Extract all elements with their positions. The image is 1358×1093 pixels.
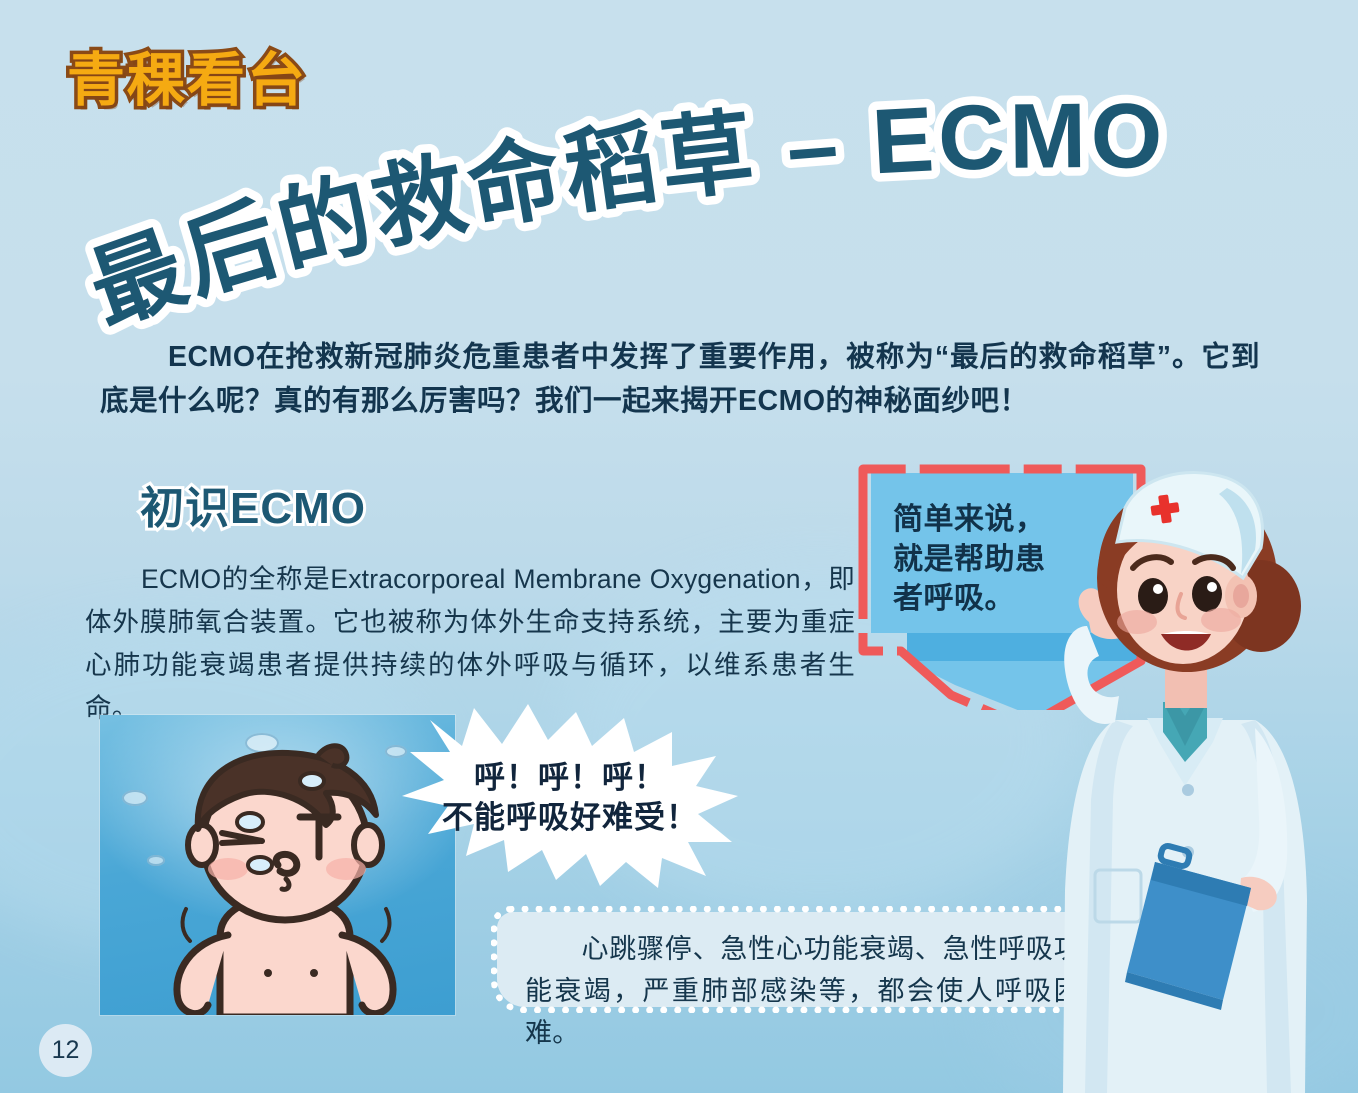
section-paragraph-text: ECMO的全称是Extracorporeal Membrane Oxygenat… [85,564,855,723]
page-number: 12 [39,1024,92,1077]
nurse-ear-inner [1233,584,1249,608]
man-cheek-left [208,858,248,880]
svg-text:最后的救命稻草 – ECMO: 最后的救命稻草 – ECMO [77,85,1167,343]
man-body-dot-left [264,969,272,977]
nurse-eye-left [1138,578,1168,614]
caption-box: 心跳骤停、急性心功能衰竭、急性呼吸功能衰竭，严重肺部感染等，都会使人呼吸困难。 [497,912,1109,1007]
caption-text: 心跳骤停、急性心功能衰竭、急性呼吸功能衰竭，严重肺部感染等，都会使人呼吸困难。 [525,929,1081,1055]
nurse-blush-left [1117,610,1157,634]
man-sweat-3 [300,773,324,789]
burst-speech-bubble: 呼！呼！呼！ 不能呼吸好难受！ [400,700,740,890]
nurse-neck [1165,666,1207,708]
intro-text: ECMO在抢救新冠肺炎危重患者中发挥了重要作用，被称为“最后的救命稻草”。它到底… [100,341,1260,417]
section-heading: 初识ECMO [140,487,366,531]
motion-line-left [183,909,190,941]
poster-page: 青稞看台 最后的救命稻草 – ECMO 最后的救命稻草 – ECMO ECMO在… [0,0,1358,1093]
burst-line-1: 呼！呼！呼！ [400,758,740,798]
gasping-man-figure [150,737,420,1015]
burst-line-2: 不能呼吸好难受！ [400,798,740,838]
page-title-fill: 最后的救命稻草 – ECMO [77,85,1167,343]
nurse-eye-right-glint [1207,582,1217,592]
man-sweat-2 [248,857,272,873]
kicker-label: 青稞看台 [67,52,307,110]
nurse-eye-right [1192,576,1222,612]
page-title: 最后的救命稻草 – ECMO 最后的救命稻草 – ECMO [0,140,1358,310]
nurse-arm-left [1064,626,1119,724]
motion-line-right [382,909,389,941]
man-ear-left [188,825,216,865]
man-ear-right [354,825,382,865]
caption-body: 心跳骤停、急性心功能衰竭、急性呼吸功能衰竭，严重肺部感染等，都会使人呼吸困难。 [525,934,1081,1048]
man-body-dot-right [310,969,318,977]
nurse-eye-left-glint [1153,584,1163,594]
nurse-button-1 [1182,784,1194,796]
burst-bubble-text: 呼！呼！呼！ 不能呼吸好难受！ [400,758,740,837]
nurse-illustration [1055,470,1358,1093]
intro-paragraph: ECMO在抢救新冠肺炎危重患者中发挥了重要作用，被称为“最后的救命稻草”。它到底… [100,335,1260,423]
man-cheek-right [326,858,366,880]
nurse-blush-right [1201,608,1241,632]
water-drop-2 [122,790,148,806]
man-sweat-1 [237,813,263,831]
